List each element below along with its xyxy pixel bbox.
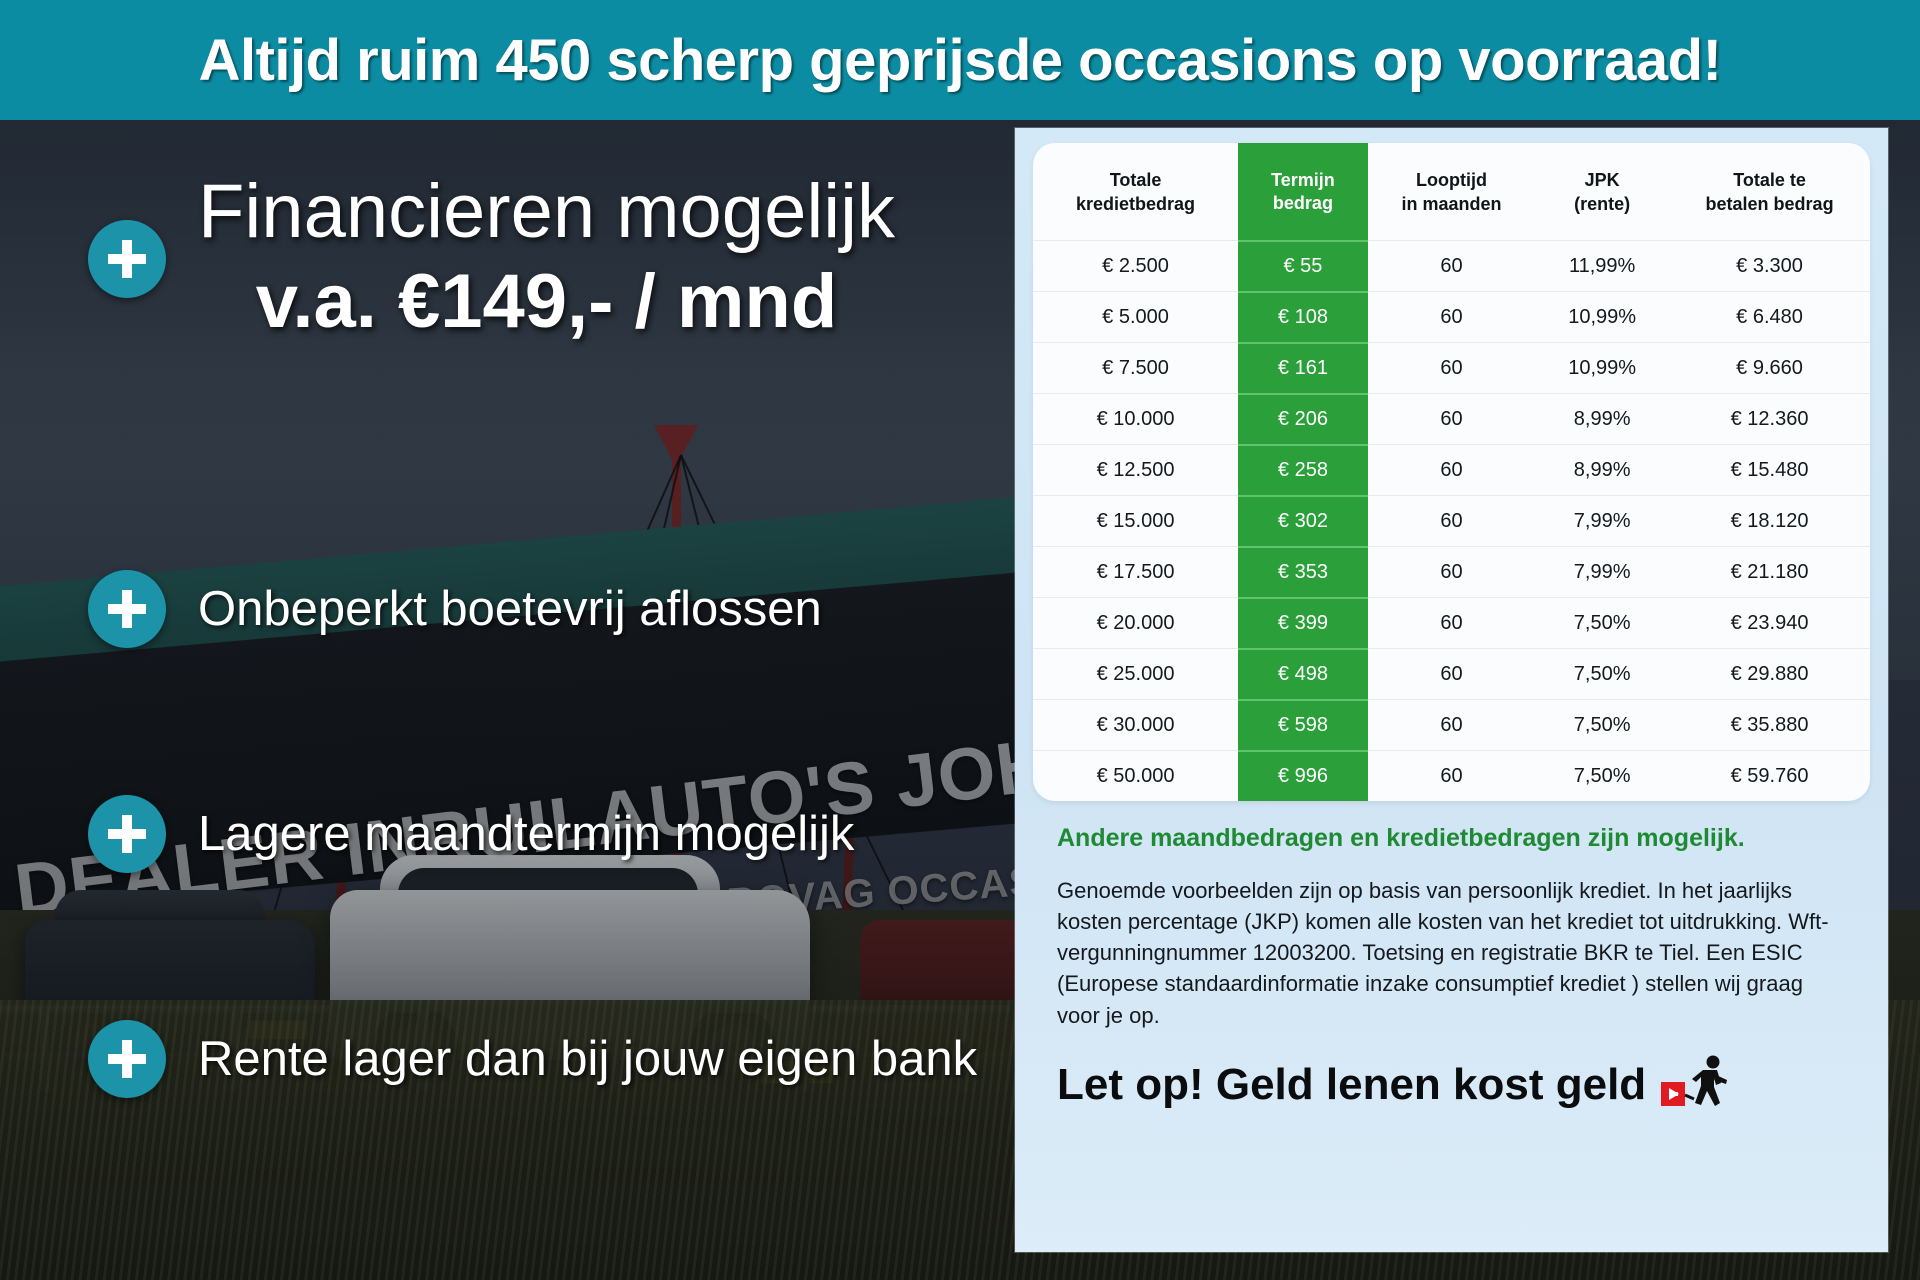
cell-jkp: 7,50% [1535,751,1669,801]
table-row: € 25.000 € 498 60 7,50% € 29.880 [1033,649,1870,700]
plus-icon [88,220,166,298]
cell-totaal: € 6.480 [1669,292,1870,343]
cell-termijn: € 399 [1238,598,1368,649]
cell-krediet: € 50.000 [1033,751,1238,801]
table-row: € 12.500 € 258 60 8,99% € 15.480 [1033,445,1870,496]
cell-totaal: € 59.760 [1669,751,1870,801]
cell-totaal: € 29.880 [1669,649,1870,700]
disclaimer-title: Andere maandbedragen en kredietbedragen … [1057,823,1846,853]
header-line1: JPK [1539,169,1665,192]
header-line2: bedrag [1242,192,1364,215]
rates-table-body: € 2.500 € 55 60 11,99% € 3.300 € 5.000 €… [1033,241,1870,801]
cell-termijn: € 108 [1238,292,1368,343]
cell-krediet: € 30.000 [1033,700,1238,751]
cell-totaal: € 9.660 [1669,343,1870,394]
plus-icon [88,795,166,873]
cell-jkp: 7,50% [1535,649,1669,700]
header-line1: Totale te [1673,169,1866,192]
column-header-krediet: Totale kredietbedrag [1033,143,1238,241]
cell-krediet: € 7.500 [1033,343,1238,394]
cell-totaal: € 12.360 [1669,394,1870,445]
header-line2: betalen bedrag [1673,193,1866,216]
cell-krediet: € 15.000 [1033,496,1238,547]
cell-looptijd: 60 [1368,241,1535,292]
cell-termijn: € 161 [1238,343,1368,394]
cell-krediet: € 2.500 [1033,241,1238,292]
feature-label: Lagere maandtermijn mogelijk [198,806,854,862]
table-row: € 30.000 € 598 60 7,50% € 35.880 [1033,700,1870,751]
cell-krediet: € 25.000 [1033,649,1238,700]
cell-jkp: 11,99% [1535,241,1669,292]
plus-icon [88,1020,166,1098]
feature-list: Financieren mogelijk v.a. €149,- / mnd O… [0,120,1015,1280]
cell-jkp: 8,99% [1535,445,1669,496]
cell-krediet: € 17.500 [1033,547,1238,598]
cell-krediet: € 10.000 [1033,394,1238,445]
cell-termijn: € 996 [1238,751,1368,801]
cell-totaal: € 35.880 [1669,700,1870,751]
column-header-looptijd: Looptijd in maanden [1368,143,1535,241]
hero-headline-line2: v.a. €149,- / mnd [256,258,838,345]
cell-looptijd: 60 [1368,751,1535,801]
column-header-termijn: Termijn bedrag [1238,143,1368,241]
cell-jkp: 10,99% [1535,292,1669,343]
column-header-totaal: Totale te betalen bedrag [1669,143,1870,241]
cell-jkp: 8,99% [1535,394,1669,445]
advertisement-page: DEALER INRUILAUTO'S JOHAN MEURE ALTIJD 4… [0,0,1920,1280]
feature-label: Onbeperkt boetevrij aflossen [198,581,822,637]
cell-looptijd: 60 [1368,649,1535,700]
header-line2: kredietbedrag [1037,193,1234,216]
cell-looptijd: 60 [1368,598,1535,649]
cell-termijn: € 206 [1238,394,1368,445]
disclaimer-block: Andere maandbedragen en kredietbedragen … [1015,801,1888,1031]
afm-walking-man-icon [1660,1055,1730,1116]
cell-jkp: 10,99% [1535,343,1669,394]
cell-jkp: 7,99% [1535,496,1669,547]
cell-looptijd: 60 [1368,700,1535,751]
cell-termijn: € 498 [1238,649,1368,700]
table-row: € 10.000 € 206 60 8,99% € 12.360 [1033,394,1870,445]
cell-totaal: € 15.480 [1669,445,1870,496]
cell-jkp: 7,50% [1535,598,1669,649]
header-line2: in maanden [1372,193,1531,216]
cell-krediet: € 20.000 [1033,598,1238,649]
cell-totaal: € 18.120 [1669,496,1870,547]
table-row: € 15.000 € 302 60 7,99% € 18.120 [1033,496,1870,547]
cell-jkp: 7,99% [1535,547,1669,598]
table-header-row: Totale kredietbedrag Termijn bedrag Loop… [1033,143,1870,241]
afm-warning-text: Let op! Geld lenen kost geld [1057,1060,1646,1110]
cell-looptijd: 60 [1368,394,1535,445]
hero-headline-lines: Financieren mogelijk v.a. €149,- / mnd [198,172,895,345]
header-line1: Totale [1037,169,1234,192]
cell-looptijd: 60 [1368,547,1535,598]
cell-termijn: € 353 [1238,547,1368,598]
hero-headline-group: Financieren mogelijk v.a. €149,- / mnd [88,172,895,345]
table-row: € 17.500 € 353 60 7,99% € 21.180 [1033,547,1870,598]
cell-totaal: € 3.300 [1669,241,1870,292]
cell-jkp: 7,50% [1535,700,1669,751]
header-line1: Termijn [1242,169,1364,192]
cell-looptijd: 60 [1368,496,1535,547]
top-banner: Altijd ruim 450 scherp geprijsde occasio… [0,0,1920,120]
feature-label: Rente lager dan bij jouw eigen bank [198,1031,977,1087]
plus-icon [88,570,166,648]
table-row: € 7.500 € 161 60 10,99% € 9.660 [1033,343,1870,394]
column-header-jkp: JPK (rente) [1535,143,1669,241]
rates-table-card: Totale kredietbedrag Termijn bedrag Loop… [1033,143,1870,801]
table-row: € 20.000 € 399 60 7,50% € 23.940 [1033,598,1870,649]
table-row: € 5.000 € 108 60 10,99% € 6.480 [1033,292,1870,343]
rates-table: Totale kredietbedrag Termijn bedrag Loop… [1033,143,1870,801]
cell-krediet: € 5.000 [1033,292,1238,343]
finance-panel: Totale kredietbedrag Termijn bedrag Loop… [1015,128,1888,1252]
table-row: € 50.000 € 996 60 7,50% € 59.760 [1033,751,1870,801]
hero-headline-line1: Financieren mogelijk [198,172,895,252]
feature-item-2: Rente lager dan bij jouw eigen bank [88,1020,977,1098]
cell-krediet: € 12.500 [1033,445,1238,496]
feature-item-1: Lagere maandtermijn mogelijk [88,795,854,873]
cell-looptijd: 60 [1368,292,1535,343]
disclaimer-body: Genoemde voorbeelden zijn op basis van p… [1057,875,1846,1031]
cell-termijn: € 55 [1238,241,1368,292]
header-line1: Looptijd [1372,169,1531,192]
header-line2: (rente) [1539,193,1665,216]
table-row: € 2.500 € 55 60 11,99% € 3.300 [1033,241,1870,292]
banner-text: Altijd ruim 450 scherp geprijsde occasio… [199,27,1722,94]
cell-termijn: € 598 [1238,700,1368,751]
afm-warning: Let op! Geld lenen kost geld [1057,1055,1846,1116]
cell-looptijd: 60 [1368,445,1535,496]
cell-totaal: € 21.180 [1669,547,1870,598]
cell-looptijd: 60 [1368,343,1535,394]
feature-item-0: Onbeperkt boetevrij aflossen [88,570,822,648]
cell-termijn: € 258 [1238,445,1368,496]
cell-totaal: € 23.940 [1669,598,1870,649]
cell-termijn: € 302 [1238,496,1368,547]
